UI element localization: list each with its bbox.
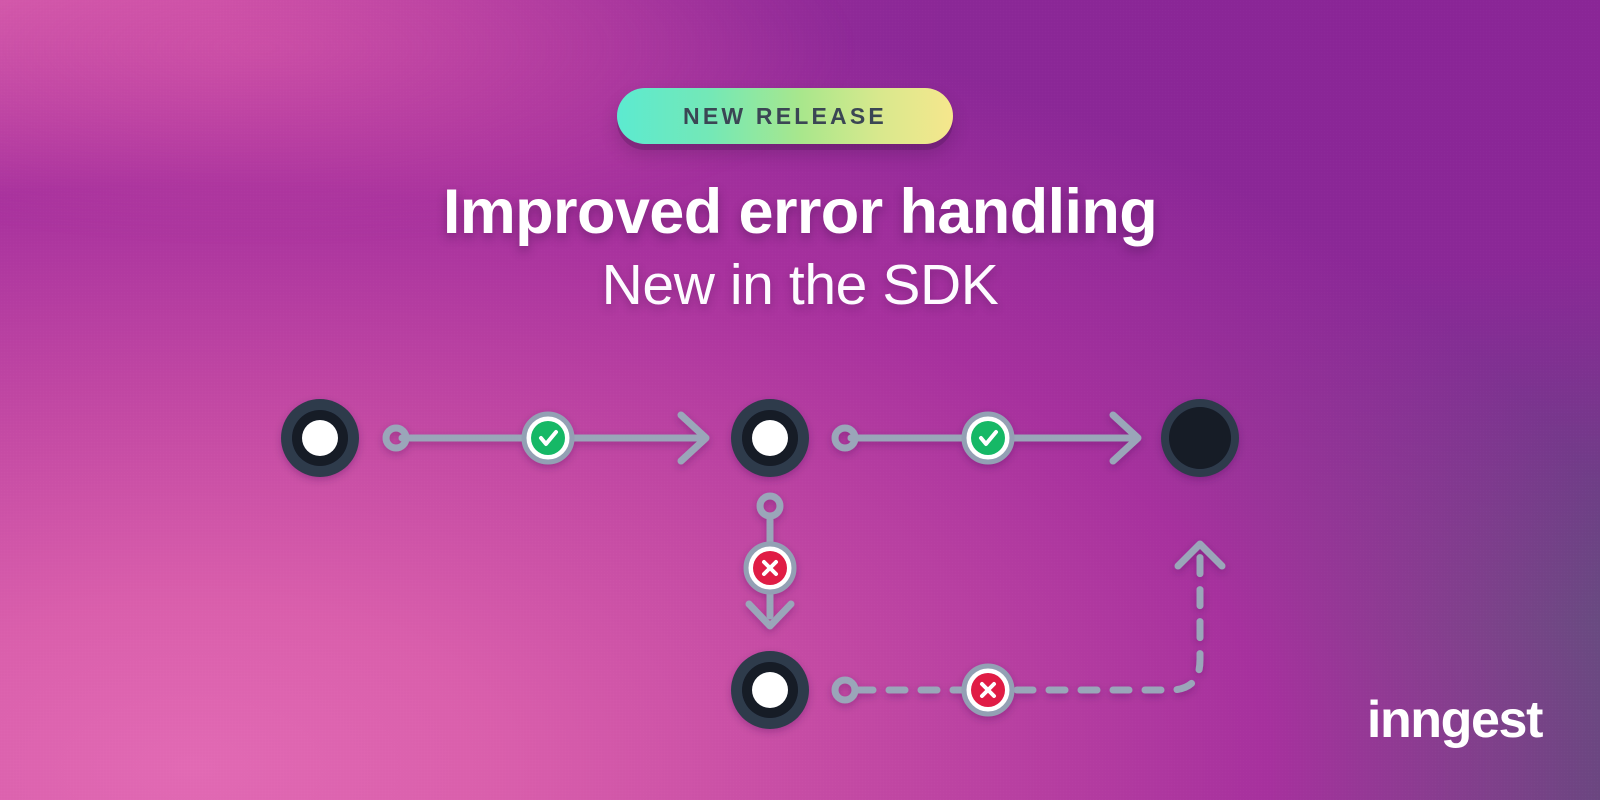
edge-origin-dot	[835, 428, 855, 448]
end-node	[1161, 399, 1239, 477]
error-handler-node	[731, 651, 809, 729]
edge-origin-dot	[760, 496, 780, 516]
edge-origin-dot	[835, 680, 855, 700]
success-check-badge	[964, 414, 1012, 462]
node-status-dot	[302, 420, 338, 456]
node-status-dot	[752, 672, 788, 708]
promo-banner: NEW RELEASE Improved error handling New …	[0, 0, 1600, 800]
edge-origin-dot	[386, 428, 406, 448]
start-node	[281, 399, 359, 477]
edge-error-retry-path	[835, 544, 1222, 700]
error-x-badge	[964, 666, 1012, 714]
node-status-dot	[752, 420, 788, 456]
workflow-diagram	[0, 0, 1600, 800]
middle-node	[731, 399, 809, 477]
error-x-badge	[746, 544, 794, 592]
success-check-badge	[524, 414, 572, 462]
inngest-logo: inngest	[1367, 690, 1542, 750]
